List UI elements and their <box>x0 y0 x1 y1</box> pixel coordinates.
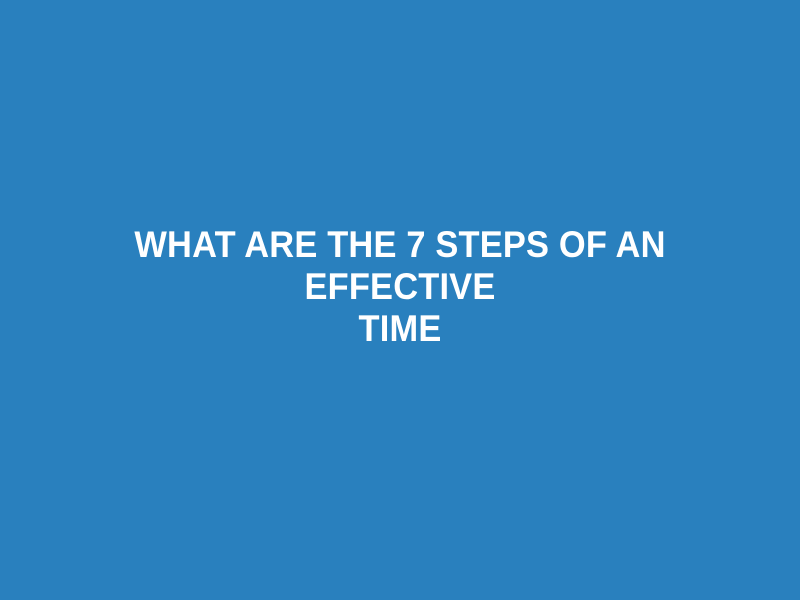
page-title: WHAT ARE THE 7 STEPS OF AN EFFECTIVE TIM… <box>73 224 728 350</box>
title-block: WHAT ARE THE 7 STEPS OF AN EFFECTIVE TIM… <box>0 224 800 350</box>
featured-image-card: WHAT ARE THE 7 STEPS OF AN EFFECTIVE TIM… <box>0 0 800 600</box>
